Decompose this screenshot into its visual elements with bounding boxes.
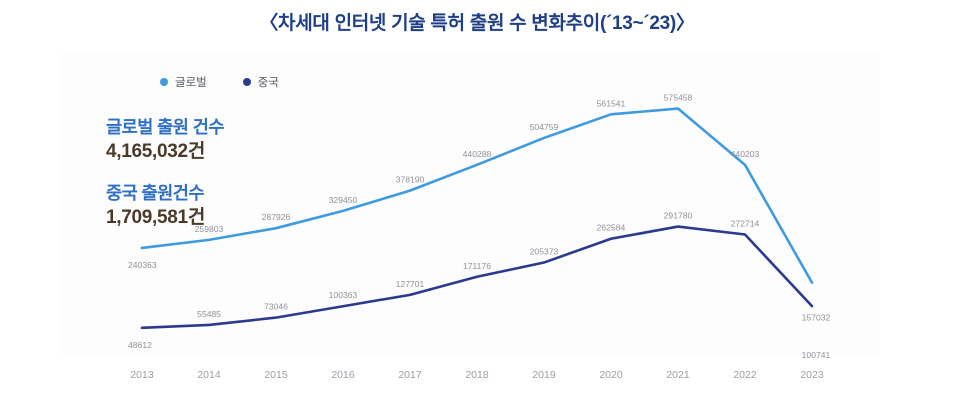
line-path-global bbox=[142, 109, 812, 283]
data-label: 561541 bbox=[597, 98, 626, 108]
series-global bbox=[142, 109, 812, 283]
data-label: 259803 bbox=[195, 224, 224, 234]
line-path-china bbox=[142, 227, 812, 328]
x-tick-label: 2014 bbox=[197, 369, 221, 381]
x-tick-label: 2020 bbox=[599, 369, 623, 381]
data-label: 55485 bbox=[197, 309, 221, 319]
line-chart-plot: 2403632598032879263294503781904402885047… bbox=[62, 50, 880, 390]
data-label: 329450 bbox=[329, 195, 358, 205]
x-tick-label: 2018 bbox=[465, 369, 489, 381]
x-tick-label: 2015 bbox=[264, 369, 288, 381]
data-label: 440288 bbox=[463, 149, 492, 159]
data-label: 205373 bbox=[530, 247, 559, 257]
data-label: 127701 bbox=[396, 279, 425, 289]
data-label: 48612 bbox=[128, 340, 152, 350]
x-axis-ticks: 2013201420152016201720182019202020212022… bbox=[130, 369, 824, 381]
x-tick-label: 2021 bbox=[666, 369, 690, 381]
data-label: 291780 bbox=[664, 211, 693, 221]
data-label: 100741 bbox=[802, 350, 831, 360]
x-tick-label: 2022 bbox=[733, 369, 757, 381]
data-label: 504759 bbox=[530, 122, 559, 132]
data-label: 73046 bbox=[264, 302, 288, 312]
data-label: 171176 bbox=[463, 261, 491, 271]
x-tick-label: 2013 bbox=[130, 369, 154, 381]
page-title: 〈차세대 인터넷 기술 특허 출원 수 변화추이(´13~´23)〉 bbox=[0, 8, 954, 35]
x-tick-label: 2023 bbox=[800, 369, 824, 381]
x-tick-label: 2017 bbox=[398, 369, 422, 381]
series-china bbox=[142, 227, 812, 328]
data-label: 262584 bbox=[597, 223, 626, 233]
data-label: 240363 bbox=[128, 260, 157, 270]
data-label: 287926 bbox=[262, 212, 291, 222]
data-labels-global: 2403632598032879263294503781904402885047… bbox=[128, 93, 831, 323]
data-label: 100363 bbox=[329, 290, 358, 300]
data-label: 272714 bbox=[731, 219, 760, 229]
data-label: 440203 bbox=[731, 149, 760, 159]
chart-page: 〈차세대 인터넷 기술 특허 출원 수 변화추이(´13~´23)〉 글로벌 중… bbox=[0, 0, 954, 408]
data-label: 157032 bbox=[802, 313, 831, 323]
data-label: 575458 bbox=[664, 93, 693, 103]
data-label: 378190 bbox=[396, 175, 425, 185]
x-tick-label: 2016 bbox=[331, 369, 355, 381]
x-tick-label: 2019 bbox=[532, 369, 556, 381]
